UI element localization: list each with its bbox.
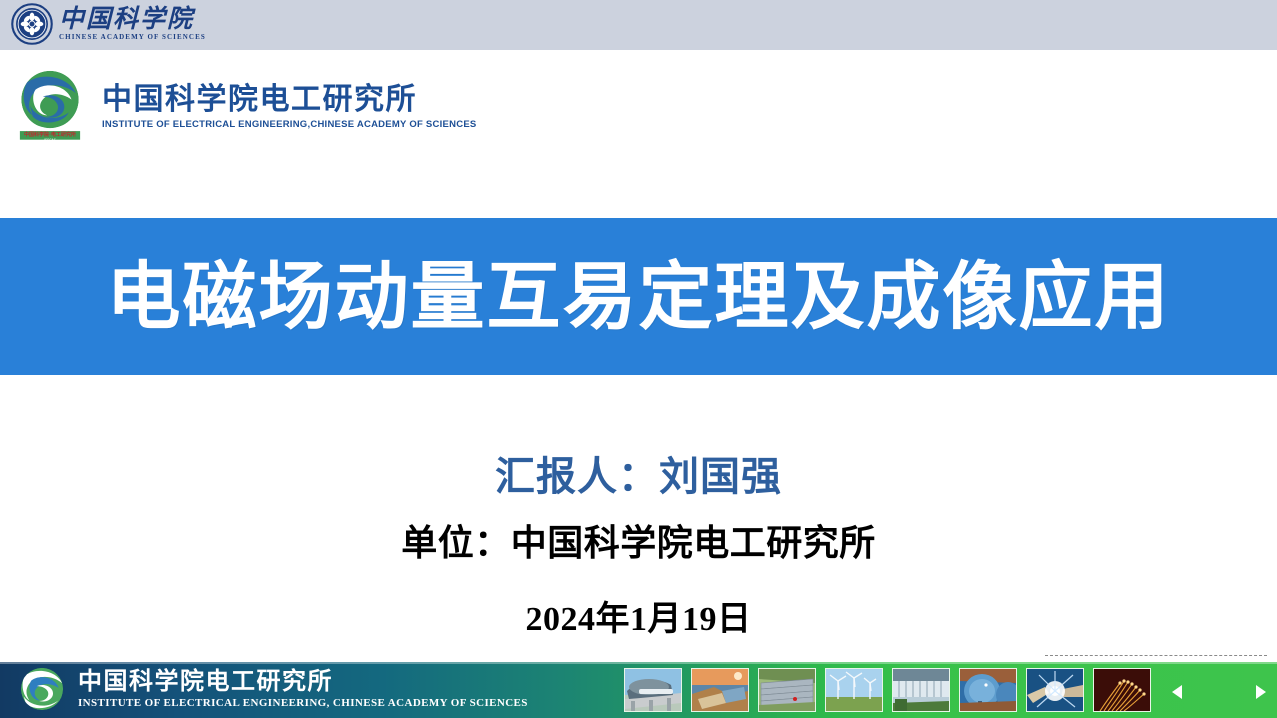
slide-body: 汇报人：刘国强 单位：中国科学院电工研究所 2024年1月19日 (0, 375, 1277, 662)
electric-welding-thumbnail[interactable] (1026, 668, 1084, 712)
footer-institute-cn: 中国科学院电工研究所 (78, 669, 528, 695)
iee-emblem-icon: 中国科学院·电工研究所 IEECAS (14, 68, 86, 144)
date-line: 2024年1月19日 (0, 603, 1277, 637)
institute-logo: 中国科学院·电工研究所 IEECAS 中国科学院电工研究所 INSTITUTE … (14, 68, 477, 144)
svg-text:IEECAS: IEECAS (44, 138, 56, 142)
slide-title: 电磁场动量互易定理及成像应用 (107, 260, 1171, 334)
institute-name-cn: 中国科学院电工研究所 (102, 83, 477, 117)
triangle-right-icon[interactable] (1256, 685, 1266, 699)
cas-wordmark: 中国科学院 CHINESE ACADEMY OF SCIENCES (59, 7, 206, 41)
institute-name-en: INSTITUTE OF ELECTRICAL ENGINEERING,CHIN… (102, 120, 477, 130)
footer-top-highlight (0, 662, 1277, 664)
title-band: 电磁场动量互易定理及成像应用 (0, 218, 1277, 375)
solar-power-station-thumbnail[interactable] (691, 668, 749, 712)
triangle-left-icon[interactable] (1172, 685, 1182, 699)
maglev-train-thumbnail[interactable] (624, 668, 682, 712)
satellite-dish-thumbnail[interactable] (959, 668, 1017, 712)
cas-logo: 中国科学院 CHINESE ACADEMY OF SCIENCES (11, 3, 206, 45)
svg-text:中国科学院·电工研究所: 中国科学院·电工研究所 (24, 131, 76, 138)
slide-header: 中国科学院·电工研究所 IEECAS 中国科学院电工研究所 INSTITUTE … (0, 50, 1277, 218)
affiliation-line: 单位：中国科学院电工研究所 (0, 525, 1277, 561)
presenter-line: 汇报人：刘国强 (0, 457, 1277, 497)
top-banner: 中国科学院 CHINESE ACADEMY OF SCIENCES (0, 0, 1277, 50)
iee-emblem-icon (18, 666, 66, 712)
cas-name-en: CHINESE ACADEMY OF SCIENCES (59, 34, 206, 41)
wind-turbines-thumbnail[interactable] (825, 668, 883, 712)
footer-institute-en: INSTITUTE OF ELECTRICAL ENGINEERING, CHI… (78, 698, 528, 709)
fiber-optics-thumbnail[interactable] (1093, 668, 1151, 712)
institute-wordmark: 中国科学院电工研究所 INSTITUTE OF ELECTRICAL ENGIN… (102, 83, 477, 129)
hydro-dam-thumbnail[interactable] (892, 668, 950, 712)
footer-thumbnail-strip[interactable] (624, 668, 1151, 712)
footer-institute-logo: 中国科学院电工研究所 INSTITUTE OF ELECTRICAL ENGIN… (18, 666, 528, 712)
cas-name-cn: 中国科学院 (59, 7, 206, 33)
solar-panel-array-thumbnail[interactable] (758, 668, 816, 712)
footer-wordmark: 中国科学院电工研究所 INSTITUTE OF ELECTRICAL ENGIN… (78, 669, 528, 708)
cas-seal-icon (11, 3, 53, 45)
footer-dashed-separator (1045, 655, 1267, 656)
